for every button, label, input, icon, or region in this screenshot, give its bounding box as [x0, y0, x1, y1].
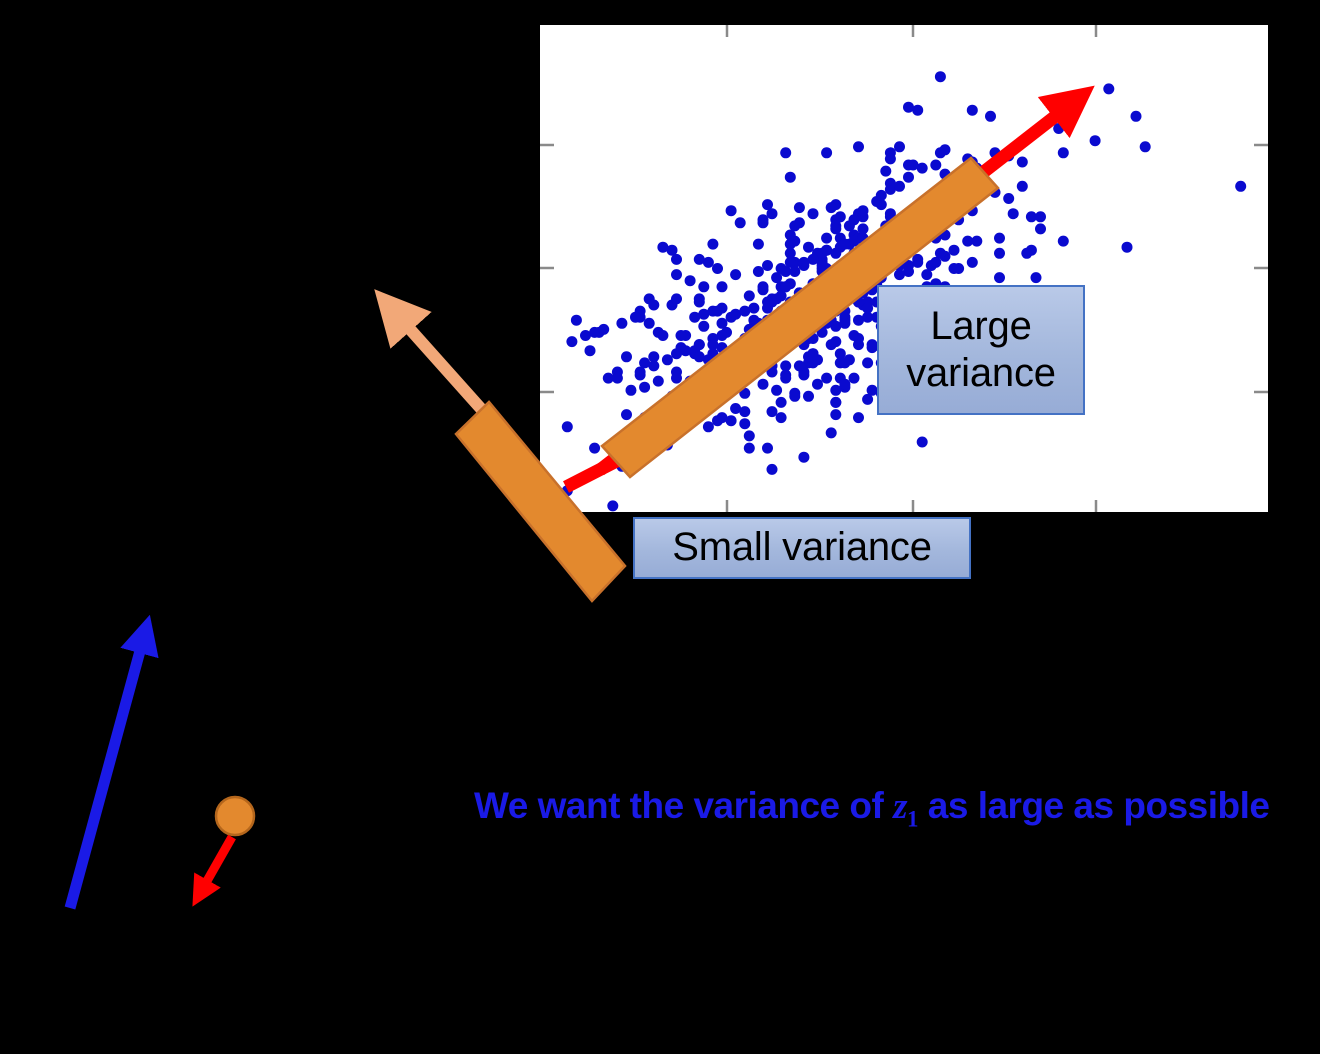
scatter-point	[653, 376, 664, 387]
scatter-point	[707, 239, 718, 250]
scatter-point	[830, 223, 841, 234]
scatter-point	[853, 412, 864, 423]
scatter-point	[762, 260, 773, 271]
scatter-point	[648, 300, 659, 311]
scatter-point	[862, 357, 873, 368]
scatter-point	[1017, 157, 1028, 168]
scatter-point	[585, 345, 596, 356]
scatter-point	[785, 230, 796, 241]
legend-orange-dot	[216, 797, 254, 835]
scatter-point	[639, 357, 650, 368]
scatter-point	[1090, 135, 1101, 146]
scatter-point	[853, 141, 864, 152]
scatter-point	[785, 172, 796, 183]
scatter-point	[689, 312, 700, 323]
scatter-point	[803, 242, 814, 253]
scatter-point	[694, 351, 705, 362]
scatter-point	[626, 385, 637, 396]
scatter-point	[1103, 83, 1114, 94]
scatter-point	[639, 382, 650, 393]
scatter-point	[676, 330, 687, 341]
caption-subscript: 1	[907, 806, 918, 831]
slide-canvas: Large variance Small variance We want th…	[0, 0, 1320, 1054]
scatter-point	[921, 269, 932, 280]
scatter-point	[794, 202, 805, 213]
scatter-point	[735, 217, 746, 228]
scatter-point	[1058, 236, 1069, 247]
scatter-point	[794, 217, 805, 228]
scatter-point	[839, 379, 850, 390]
scatter-point	[771, 272, 782, 283]
scatter-point	[662, 354, 673, 365]
scatter-point	[985, 111, 996, 122]
callout-small-variance-label: Small variance	[672, 524, 932, 571]
scatter-point	[776, 397, 787, 408]
scatter-point	[839, 239, 850, 250]
scatter-point	[1031, 272, 1042, 283]
callout-small-variance: Small variance	[633, 517, 971, 579]
scatter-point	[758, 379, 769, 390]
scatter-point	[698, 281, 709, 292]
scatter-point	[808, 254, 819, 265]
scatter-point	[1021, 248, 1032, 259]
scatter-point	[1035, 211, 1046, 222]
scatter-point	[826, 339, 837, 350]
scatter-point	[862, 394, 873, 405]
scatter-point	[858, 205, 869, 216]
scatter-point	[753, 239, 764, 250]
scatter-point	[785, 248, 796, 259]
scatter-point	[612, 373, 623, 384]
scatter-point	[876, 190, 887, 201]
scatter-point	[726, 205, 737, 216]
scatter-point	[739, 406, 750, 417]
scatter-point	[1003, 193, 1014, 204]
scatter-point	[771, 385, 782, 396]
scatter-point	[803, 391, 814, 402]
scatter-point	[739, 418, 750, 429]
scatter-point	[712, 263, 723, 274]
scatter-point	[580, 330, 591, 341]
scatter-point	[657, 330, 668, 341]
scatter-point	[694, 297, 705, 308]
scatter-point	[671, 293, 682, 304]
scatter-point	[830, 397, 841, 408]
scatter-point	[744, 290, 755, 301]
scatter-point	[821, 233, 832, 244]
scatter-point	[830, 409, 841, 420]
scatter-point	[967, 105, 978, 116]
scatter-point	[821, 373, 832, 384]
scatter-point	[935, 147, 946, 158]
scatter-point	[703, 421, 714, 432]
scatter-point	[830, 248, 841, 259]
scatter-point	[571, 315, 582, 326]
scatter-point	[717, 281, 728, 292]
scatter-point	[930, 160, 941, 171]
scatter-point	[717, 303, 728, 314]
caption-suffix: as large as possible	[918, 785, 1269, 826]
scatter-point	[744, 430, 755, 441]
scatter-point	[885, 153, 896, 164]
scatter-point	[849, 214, 860, 225]
scatter-point	[671, 348, 682, 359]
scatter-point	[1035, 223, 1046, 234]
scatter-point	[671, 254, 682, 265]
scatter-point	[717, 330, 728, 341]
scatter-point	[780, 147, 791, 158]
scatter-point	[1017, 181, 1028, 192]
scatter-point	[589, 443, 600, 454]
scatter-point	[685, 275, 696, 286]
scatter-point	[862, 303, 873, 314]
scatter-point	[994, 233, 1005, 244]
scatter-point	[657, 242, 668, 253]
caption-text: We want the variance of z1 as large as p…	[474, 781, 1274, 835]
scatter-point	[739, 306, 750, 317]
scatter-point	[598, 324, 609, 335]
scatter-point	[644, 318, 655, 329]
scatter-point	[726, 415, 737, 426]
scatter-point	[812, 379, 823, 390]
scatter-point	[894, 269, 905, 280]
scatter-point	[762, 443, 773, 454]
scatter-point	[867, 339, 878, 350]
scatter-point	[566, 336, 577, 347]
scatter-point	[758, 281, 769, 292]
scatter-point	[826, 202, 837, 213]
scatter-point	[717, 318, 728, 329]
legend-blue-arrow	[70, 640, 143, 908]
scatter-point	[949, 263, 960, 274]
scatter-point	[762, 199, 773, 210]
scatter-point	[703, 257, 714, 268]
caption-variable: z	[893, 786, 907, 827]
scatter-point	[908, 160, 919, 171]
scatter-point	[885, 178, 896, 189]
scatter-point	[707, 339, 718, 350]
scatter-point	[776, 412, 787, 423]
scatter-point	[789, 391, 800, 402]
scatter-point	[671, 373, 682, 384]
callout-large-variance-label: Large variance	[906, 303, 1056, 397]
scatter-point	[798, 452, 809, 463]
scatter-point	[794, 360, 805, 371]
scatter-point	[994, 248, 1005, 259]
scatter-point	[789, 266, 800, 277]
scatter-point	[1131, 111, 1142, 122]
scatter-point	[780, 373, 791, 384]
scatter-point	[758, 214, 769, 225]
scatter-point	[1058, 147, 1069, 158]
scatter-point	[839, 318, 850, 329]
scatter-point	[630, 312, 641, 323]
scatter-point	[621, 351, 632, 362]
scatter-point	[1122, 242, 1133, 253]
scatter-point	[894, 141, 905, 152]
scatter-point	[767, 406, 778, 417]
scatter-point	[880, 166, 891, 177]
scatter-point	[1140, 141, 1151, 152]
callout-large-variance: Large variance	[877, 285, 1085, 415]
scatter-point	[1235, 181, 1246, 192]
scatter-point	[753, 266, 764, 277]
scatter-point	[808, 208, 819, 219]
scatter-point	[858, 223, 869, 234]
scatter-point	[730, 269, 741, 280]
scatter-point	[780, 281, 791, 292]
scatter-point	[671, 269, 682, 280]
scatter-point	[917, 437, 928, 448]
scatter-point	[935, 248, 946, 259]
scatter-point	[903, 172, 914, 183]
scatter-point	[971, 236, 982, 247]
scatter-point	[849, 373, 860, 384]
scatter-point	[562, 421, 573, 432]
scatter-point	[607, 500, 618, 511]
scatter-point	[821, 147, 832, 158]
scatter-point	[935, 71, 946, 82]
scatter-point	[621, 409, 632, 420]
scatter-point	[844, 354, 855, 365]
scatter-point	[994, 272, 1005, 283]
scatter-point	[826, 427, 837, 438]
scatter-point	[812, 354, 823, 365]
caption-prefix: We want the variance of	[474, 785, 893, 826]
scatter-point	[835, 211, 846, 222]
scatter-point	[762, 297, 773, 308]
scatter-point	[849, 330, 860, 341]
scatter-point	[694, 339, 705, 350]
scatter-point	[744, 443, 755, 454]
legend-red-arrow	[203, 837, 232, 888]
scatter-point	[949, 245, 960, 256]
scatter-point	[616, 318, 627, 329]
scatter-point	[1008, 208, 1019, 219]
scatter-point	[967, 257, 978, 268]
scatter-point	[767, 464, 778, 475]
scatter-point	[903, 102, 914, 113]
scatter-point	[698, 321, 709, 332]
